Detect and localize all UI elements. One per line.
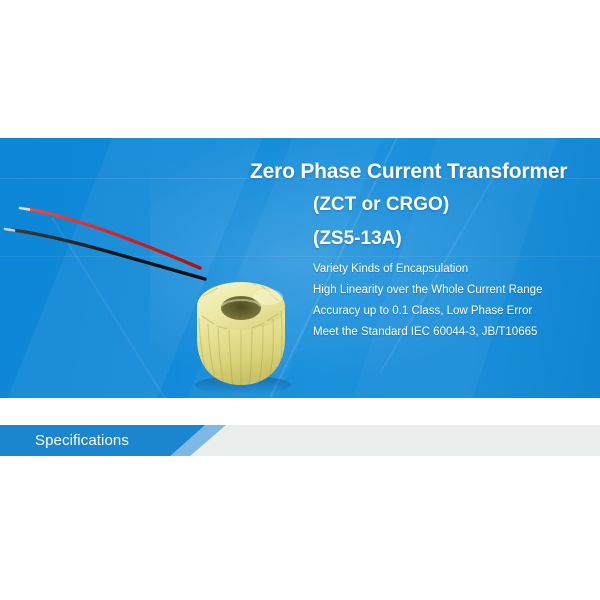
feature-list: Variety Kinds of Encapsulation High Line… <box>250 259 600 343</box>
product-title: Zero Phase Current Transformer <box>250 160 600 183</box>
hero-banner: Zero Phase Current Transformer (ZCT or C… <box>0 138 600 398</box>
feature-item: Variety Kinds of Encapsulation <box>313 259 600 280</box>
section-header-label: Specifications <box>35 425 129 456</box>
specifications-section-header: Specifications <box>0 425 600 456</box>
product-subtitle: (ZCT or CRGO) <box>250 195 600 216</box>
product-model: (ZS5-13A) <box>250 229 600 250</box>
hero-text-block: Zero Phase Current Transformer (ZCT or C… <box>250 160 600 343</box>
feature-item: High Linearity over the Whole Current Ra… <box>313 280 600 301</box>
feature-item: Accuracy up to 0.1 Class, Low Phase Erro… <box>313 301 600 322</box>
feature-item: Meet the Standard IEC 60044-3, JB/T10665 <box>313 322 600 343</box>
